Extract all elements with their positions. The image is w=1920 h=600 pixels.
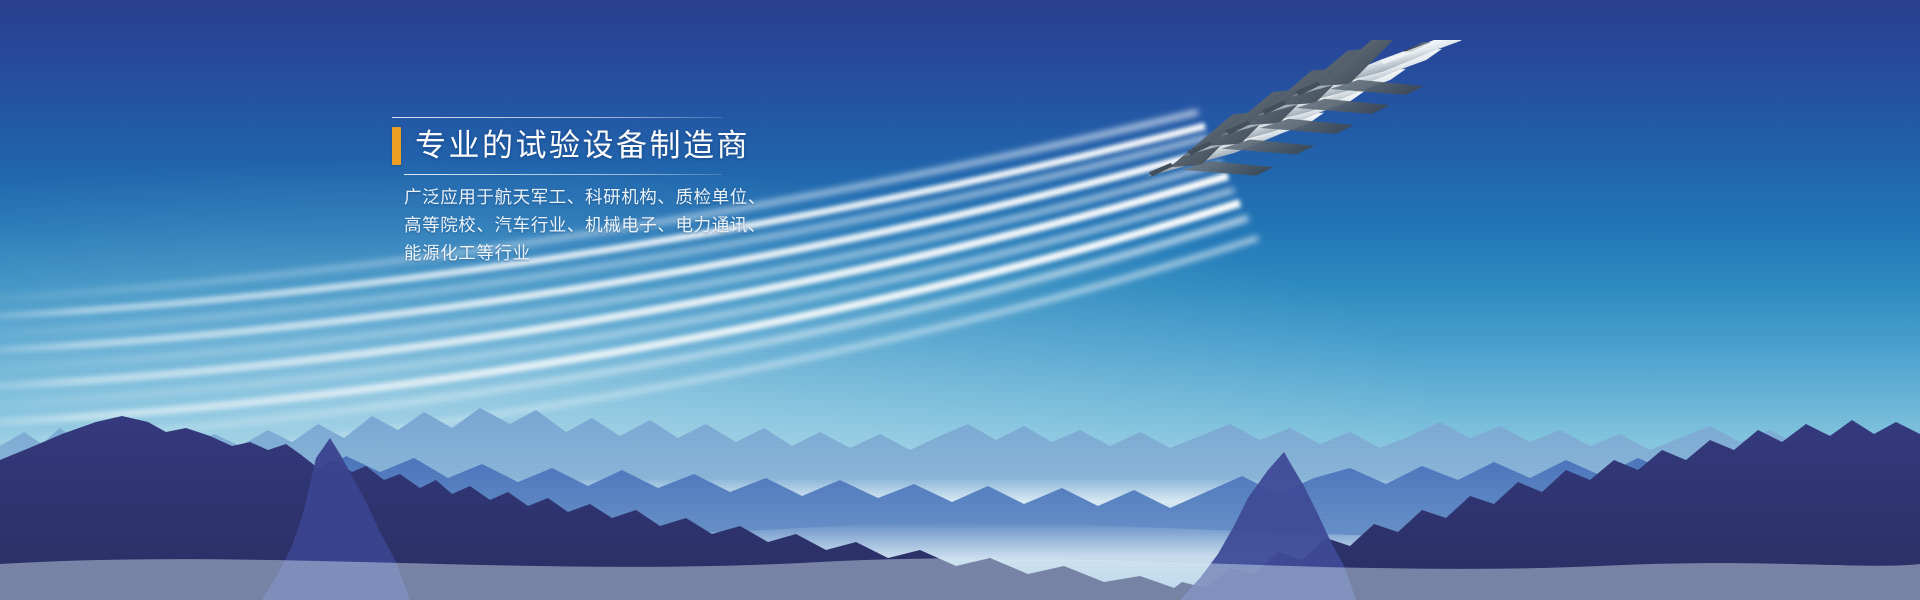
accent-bar-icon	[392, 127, 401, 165]
subtitle-line-2: 高等院校、汽车行业、机械电子、电力通讯、	[404, 211, 752, 239]
subtitle-block: 广泛应用于航天军工、科研机构、质检单位、 高等院校、汽车行业、机械电子、电力通讯…	[404, 183, 752, 267]
divider-top	[392, 117, 722, 118]
banner-copy-block: 专业的试验设备制造商 广泛应用于航天军工、科研机构、质检单位、 高等院校、汽车行…	[392, 117, 752, 267]
subtitle-line-3: 能源化工等行业	[404, 239, 752, 267]
jet-formation	[1130, 40, 1500, 270]
subtitle-line-1: 广泛应用于航天军工、科研机构、质检单位、	[404, 183, 752, 211]
page-title: 专业的试验设备制造商	[415, 127, 750, 165]
mountain-range	[0, 350, 1920, 600]
divider-bottom	[404, 174, 722, 175]
headline-row: 专业的试验设备制造商	[392, 127, 752, 165]
hero-banner: 专业的试验设备制造商 广泛应用于航天军工、科研机构、质检单位、 高等院校、汽车行…	[0, 0, 1920, 600]
